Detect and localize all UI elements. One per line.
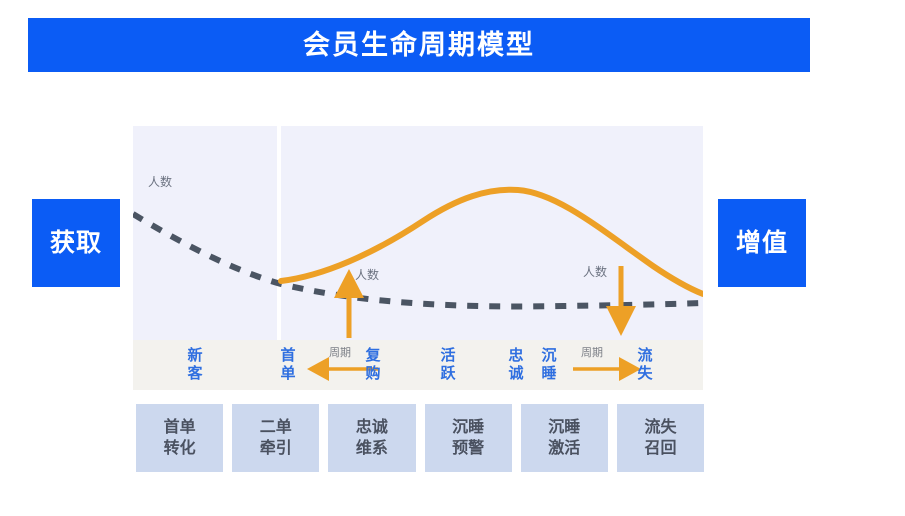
chart-label-people-left: 人数 [148,176,172,188]
slide-root: 会员生命周期模型 获取 增值 人数 [0,0,905,516]
dashed-decay-curve [133,214,703,306]
card-churn-winback[interactable]: 流失 召回 [617,404,704,472]
lifecycle-curves-svg [133,126,703,340]
pillar-value-add[interactable]: 增值 [718,199,806,287]
card-dormancy-reactivation-label: 沉睡 激活 [548,417,580,459]
page-title: 会员生命周期模型 [303,32,535,59]
stage-churn[interactable]: 流 失 [628,347,662,383]
cycle-label-right: 周期 [581,348,603,359]
card-dormancy-reactivation[interactable]: 沉睡 激活 [521,404,608,472]
card-loyalty-retention-label: 忠诚 维系 [356,417,388,459]
card-second-order-pull[interactable]: 二单 牵引 [232,404,319,472]
stage-dormant[interactable]: 沉 睡 [532,347,566,383]
down-arrow-annotation [606,266,636,336]
pillar-acquisition[interactable]: 获取 [32,199,120,287]
card-dormancy-alert-label: 沉睡 预警 [452,417,484,459]
card-first-order-conversion-label: 首单 转化 [164,417,196,459]
pillar-value-add-label: 增值 [736,231,788,256]
card-dormancy-alert[interactable]: 沉睡 预警 [425,404,512,472]
card-second-order-pull-label: 二单 牵引 [260,417,292,459]
lifecycle-chart-panel: 人数 人数 人数 [133,126,703,340]
stage-new-customer[interactable]: 新 客 [178,347,212,383]
pillar-acquisition-label: 获取 [50,231,102,256]
action-card-row: 首单 转化 二单 牵引 忠诚 维系 沉睡 预警 沉睡 激活 流失 召回 [136,404,704,472]
stage-active[interactable]: 活 跃 [431,347,465,383]
stage-loyal[interactable]: 忠 诚 [499,347,533,383]
stage-repurchase[interactable]: 复 购 [356,347,390,383]
card-first-order-conversion[interactable]: 首单 转化 [136,404,223,472]
stage-first-order[interactable]: 首 单 [271,347,305,383]
cycle-label-left: 周期 [329,348,351,359]
chart-label-people-down: 人数 [583,266,607,278]
stage-cycle-arrows-svg [133,340,703,390]
card-churn-winback-label: 流失 召回 [644,417,676,459]
card-loyalty-retention[interactable]: 忠诚 维系 [328,404,415,472]
chart-label-people-up: 人数 [355,269,379,281]
stage-strip: 新 客 首 单 复 购 活 跃 忠 诚 沉 睡 流 失 周期 周期 [133,340,703,390]
title-banner: 会员生命周期模型 [28,18,810,72]
